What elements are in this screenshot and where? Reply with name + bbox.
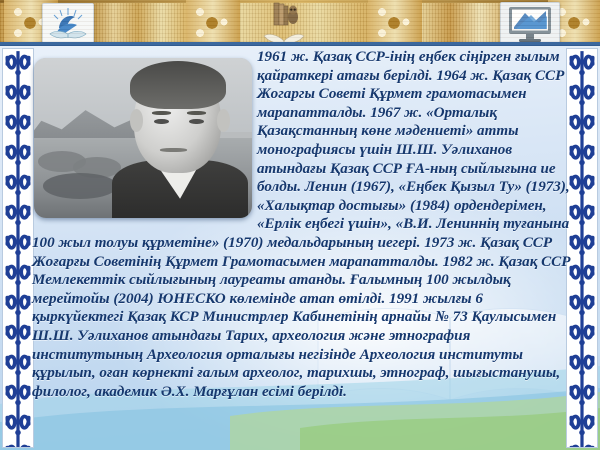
text-wrap-spacer [32,48,257,224]
falcon-book-emblem-icon [42,3,94,45]
banner-ornament-knot [186,0,240,46]
banner-top-edge [0,0,600,3]
header-banner [0,0,600,46]
banner-ornament-knot [548,0,600,46]
banner-ornament-knot [368,0,422,46]
banner-bottom-edge [0,42,600,46]
slide-body-text: 1961 ж. Қазақ ССР-інің еңбек сіңірген ғы… [32,48,572,401]
computer-monitor-documents-emblem-icon [500,2,560,46]
presentation-slide: 1961 ж. Қазақ ССР-інің еңбек сіңірген ғы… [0,0,600,450]
banner-ornament-knot [4,0,58,46]
open-book-owl-emblem-icon [258,1,310,45]
kazakh-ornament-border-left [2,48,34,448]
